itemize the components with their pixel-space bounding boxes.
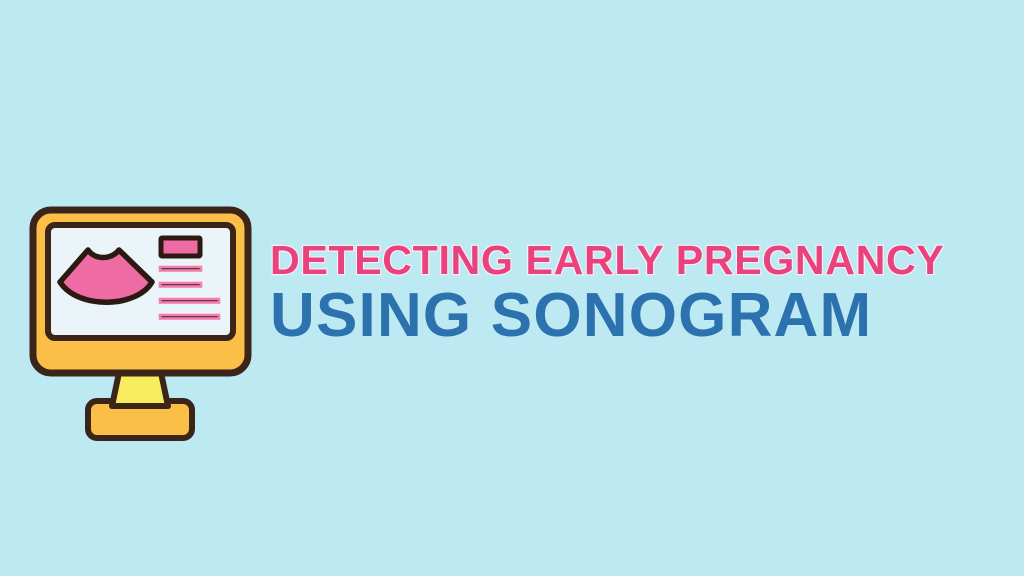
- headline-line-1: DETECTING EARLY PREGNANCY: [270, 238, 1004, 282]
- readout-line-1: [160, 267, 201, 271]
- poster-canvas: DETECTING EARLY PREGNANCY USING SONOGRAM: [0, 0, 1024, 576]
- ultrasound-monitor-svg: [20, 196, 260, 444]
- headline-block: DETECTING EARLY PREGNANCY USING SONOGRAM: [270, 238, 1000, 348]
- headline-line-2: USING SONOGRAM: [270, 284, 1000, 348]
- readout-block: [161, 238, 200, 256]
- ultrasound-monitor-illustration: [20, 196, 260, 444]
- readout-line-4: [160, 315, 219, 319]
- readout-line-3: [160, 299, 219, 303]
- readout-line-2: [160, 283, 201, 287]
